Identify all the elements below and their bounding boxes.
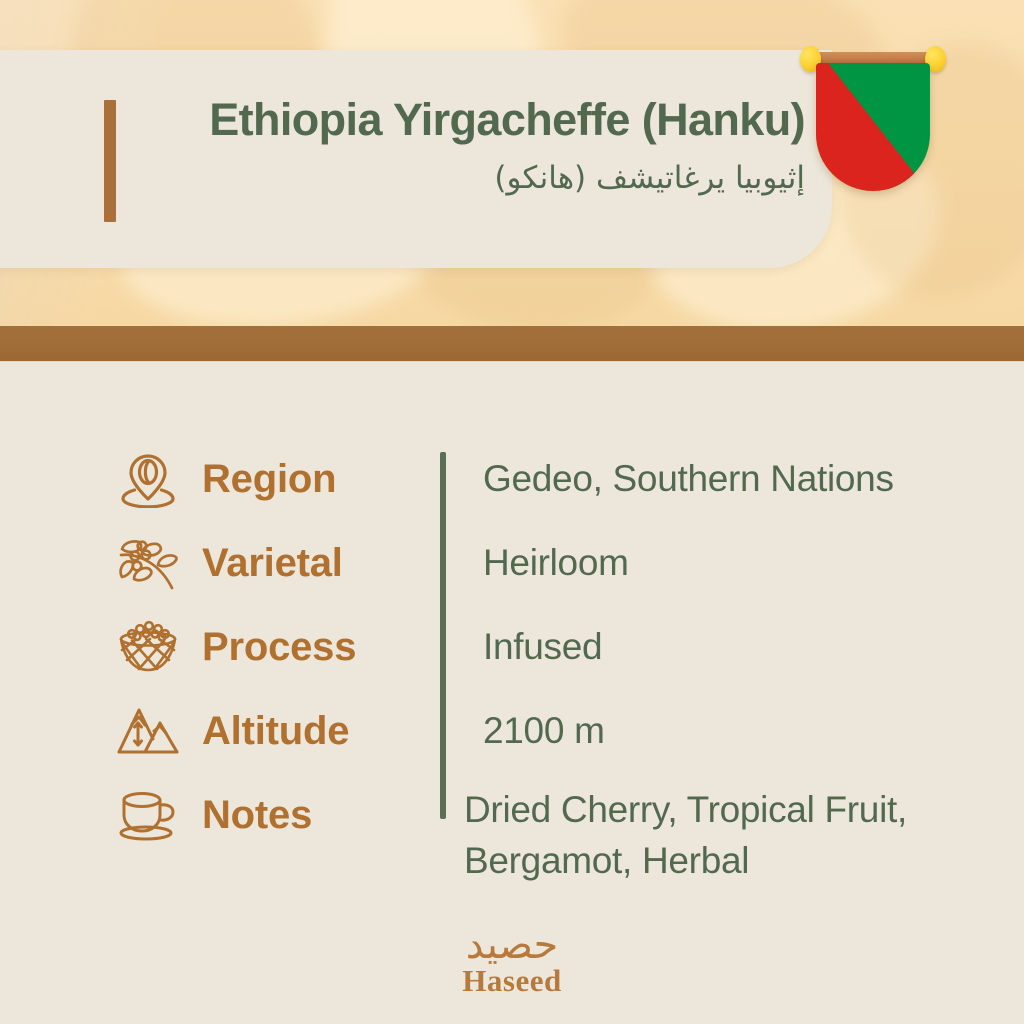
shield-body	[816, 63, 930, 191]
detail-value-varietal: Heirloom	[440, 530, 629, 588]
shield-stripe-red	[816, 63, 930, 191]
bean-basket-icon	[112, 614, 184, 680]
brand-name-arabic: حصيد	[0, 925, 1024, 965]
detail-value-notes: Dried Cherry, Tropical Fruit, Bergamot, …	[421, 782, 1024, 886]
detail-label: Altitude	[202, 709, 349, 754]
page-title-arabic: إثيوبيا يرغاتيشف (هانكو)	[140, 159, 805, 198]
brown-divider-band	[0, 326, 1024, 361]
detail-value-process: Infused	[440, 614, 602, 672]
detail-row-region: Region Gedeo, Southern Nations	[0, 446, 1024, 512]
page-title: Ethiopia Yirgacheffe (Hanku)	[140, 95, 805, 145]
location-pin-bean-icon	[112, 446, 184, 512]
title-block: Ethiopia Yirgacheffe (Hanku) إثيوبيا يرغ…	[140, 95, 805, 198]
detail-label-group: Altitude	[0, 698, 440, 764]
detail-label: Process	[202, 625, 356, 670]
detail-label-group: Varietal	[0, 530, 440, 596]
flag-shield-icon	[800, 44, 946, 194]
title-accent-bar	[104, 100, 116, 222]
detail-label-group: Region	[0, 446, 440, 512]
detail-row-varietal: Varietal Heirloom	[0, 530, 1024, 596]
mountain-altitude-icon	[112, 698, 184, 764]
brand-logo: حصيد Haseed	[0, 925, 1024, 999]
brand-name-latin: Haseed	[0, 963, 1024, 999]
detail-label: Region	[202, 457, 336, 502]
detail-row-altitude: Altitude 2100 m	[0, 698, 1024, 764]
detail-label: Varietal	[202, 541, 343, 586]
detail-label: Notes	[202, 793, 312, 838]
detail-row-process: Process Infused	[0, 614, 1024, 680]
detail-value-altitude: 2100 m	[440, 698, 605, 756]
detail-label-group: Process	[0, 614, 440, 680]
coffee-cup-icon	[112, 782, 184, 848]
detail-value-region: Gedeo, Southern Nations	[440, 446, 894, 504]
coffee-spec-card: Ethiopia Yirgacheffe (Hanku) إثيوبيا يرغ…	[0, 0, 1024, 1024]
coffee-branch-icon	[112, 530, 184, 596]
detail-row-notes: Notes Dried Cherry, Tropical Fruit, Berg…	[0, 782, 1024, 886]
detail-label-group: Notes	[0, 782, 421, 848]
